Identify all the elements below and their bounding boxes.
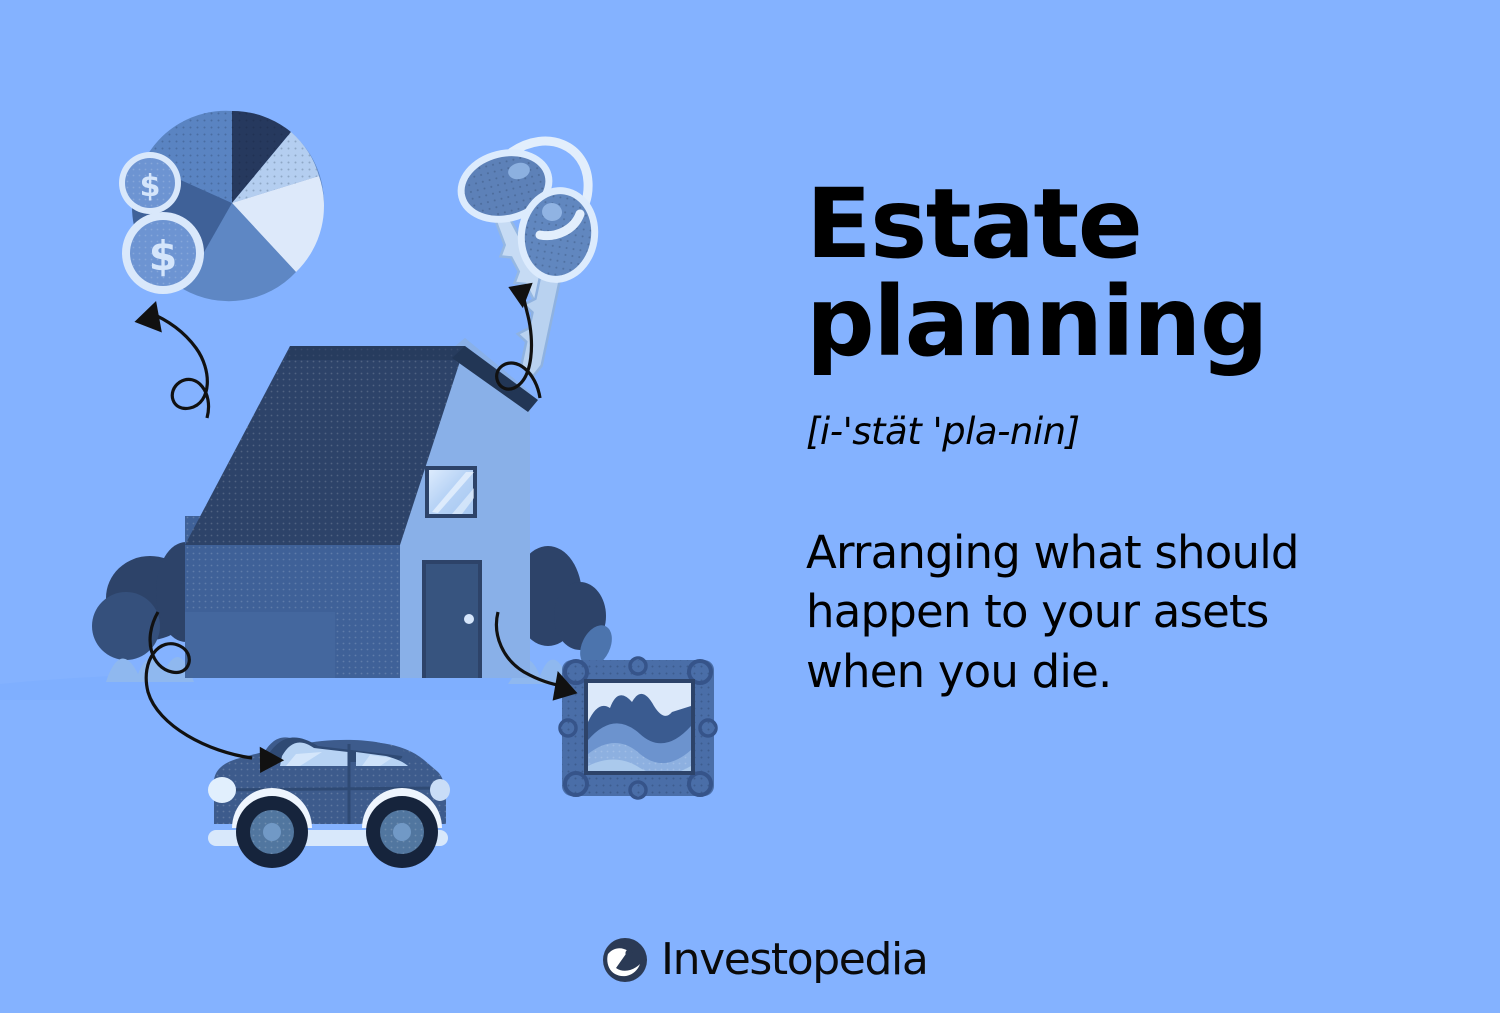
coin-dollar-symbol: $ [149, 232, 178, 280]
car-wheel-front [236, 796, 308, 868]
definition-text: Arranging what should happen to your ase… [806, 523, 1386, 701]
house-window [425, 466, 477, 518]
coin-large: $ [122, 212, 204, 294]
coin-dollar-symbol: $ [140, 169, 161, 204]
pronunciation: [i-'stät 'pla-nin] [806, 410, 1426, 453]
investopedia-wordmark: Investopedia [661, 934, 927, 985]
investopedia-circle-swoosh-icon [602, 937, 648, 983]
arrow-to-pie-chart [131, 301, 209, 418]
infographic-canvas: $ $ [0, 0, 1500, 1013]
coin-small: $ [119, 152, 181, 214]
investopedia-logo[interactable]: Investopedia [602, 934, 927, 985]
keys [450, 139, 605, 377]
artwork [588, 683, 691, 775]
illustration-panel: $ $ [0, 0, 780, 1013]
car-wheel-rear [366, 796, 438, 868]
house [185, 338, 538, 678]
definition-card: Estate planning [i-'stät 'pla-nin] Arran… [806, 176, 1426, 701]
house-door [422, 560, 482, 678]
page-title: Estate planning [806, 176, 1426, 372]
illustration-svg: $ $ [0, 0, 780, 1013]
framed-picture [560, 658, 716, 798]
